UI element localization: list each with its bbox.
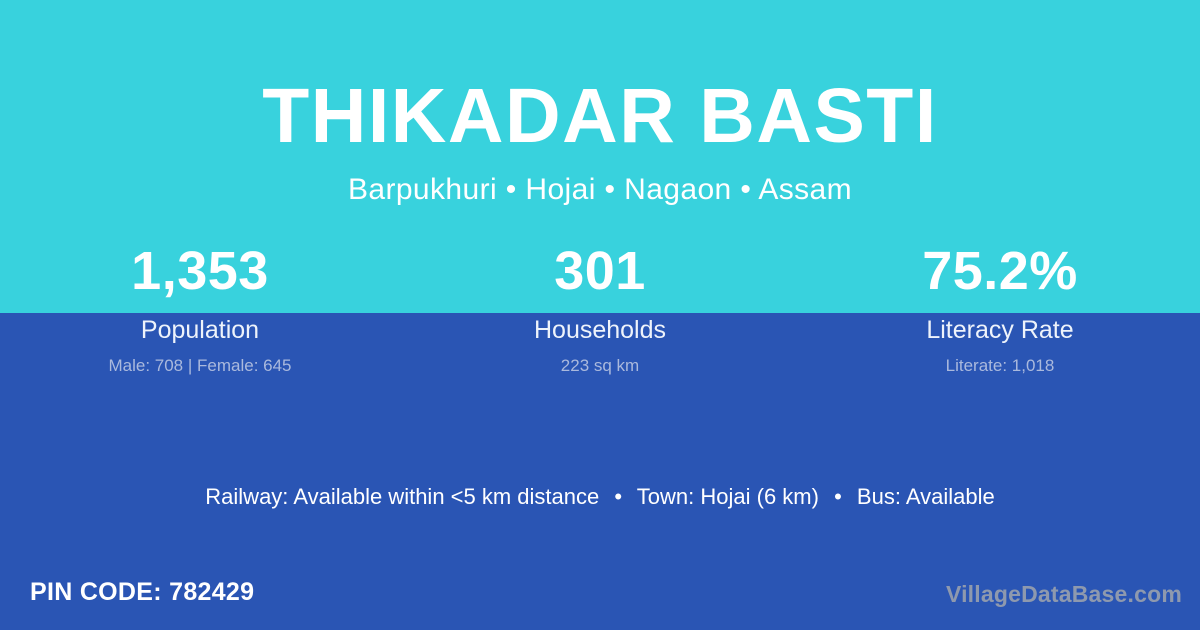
stat-label: Population [0, 317, 400, 345]
stat-sublabel: Literate: 1,018 [800, 357, 1200, 376]
infra-separator: • [825, 484, 851, 510]
infra-town: Town: Hojai (6 km) [637, 484, 819, 509]
stat-sublabel: 223 sq km [400, 357, 800, 376]
village-info-card: THIKADAR BASTI Barpukhuri • Hojai • Naga… [0, 0, 1200, 630]
header: THIKADAR BASTI Barpukhuri • Hojai • Naga… [0, 0, 1200, 206]
stat-value: 301 [400, 244, 800, 298]
stat-households: 301 Households 223 sq km [400, 244, 800, 375]
stat-sublabel: Male: 708 | Female: 645 [0, 357, 400, 376]
stat-label: Literacy Rate [800, 317, 1200, 345]
infra-railway: Railway: Available within <5 km distance [205, 484, 599, 509]
infrastructure-line: Railway: Available within <5 km distance… [0, 484, 1200, 510]
footer: PIN CODE: 782429 VillageDataBase.com [0, 573, 1200, 630]
page-title: THIKADAR BASTI [0, 0, 1200, 155]
pin-code: PIN CODE: 782429 [30, 577, 254, 607]
stat-value: 75.2% [800, 244, 1200, 298]
infra-bus: Bus: Available [857, 484, 995, 509]
infra-separator: • [605, 484, 631, 510]
stat-label: Households [400, 317, 800, 345]
stats-row: 1,353 Population Male: 708 | Female: 645… [0, 244, 1200, 375]
stat-population: 1,353 Population Male: 708 | Female: 645 [0, 244, 400, 375]
stat-value: 1,353 [0, 244, 400, 298]
stat-literacy-rate: 75.2% Literacy Rate Literate: 1,018 [800, 244, 1200, 375]
breadcrumb: Barpukhuri • Hojai • Nagaon • Assam [0, 155, 1200, 206]
site-watermark: VillageDataBase.com [946, 581, 1182, 609]
